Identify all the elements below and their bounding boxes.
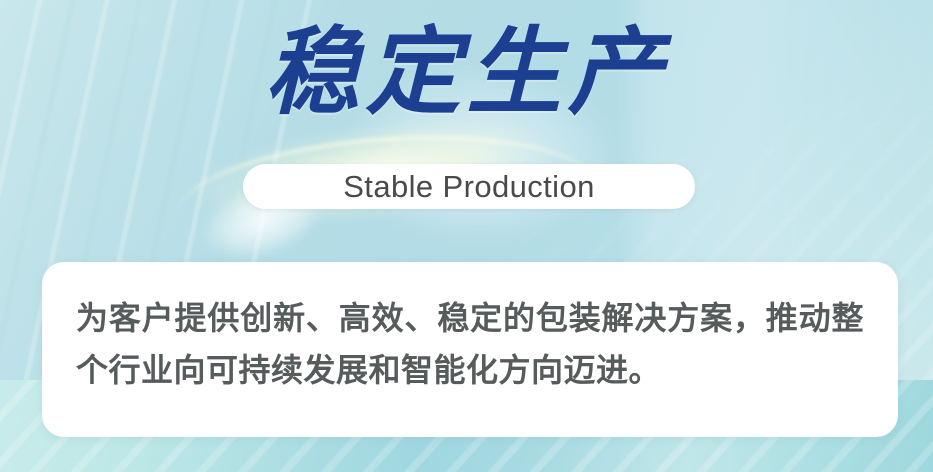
description-card: 为客户提供创新、高效、稳定的包装解决方案，推动整个行业向可持续发展和智能化方向迈… (42, 262, 898, 437)
description-text: 为客户提供创新、高效、稳定的包装解决方案，推动整个行业向可持续发展和智能化方向迈… (76, 292, 864, 396)
subtitle-text: Stable Production (343, 170, 595, 203)
stable-production-banner: 稳定生产 Stable Production 为客户提供创新、高效、稳定的包装解… (0, 0, 933, 472)
banner-content: 稳定生产 Stable Production 为客户提供创新、高效、稳定的包装解… (0, 0, 933, 472)
banner-title: 稳定生产 (0, 18, 933, 128)
subtitle-pill: Stable Production (243, 164, 695, 209)
